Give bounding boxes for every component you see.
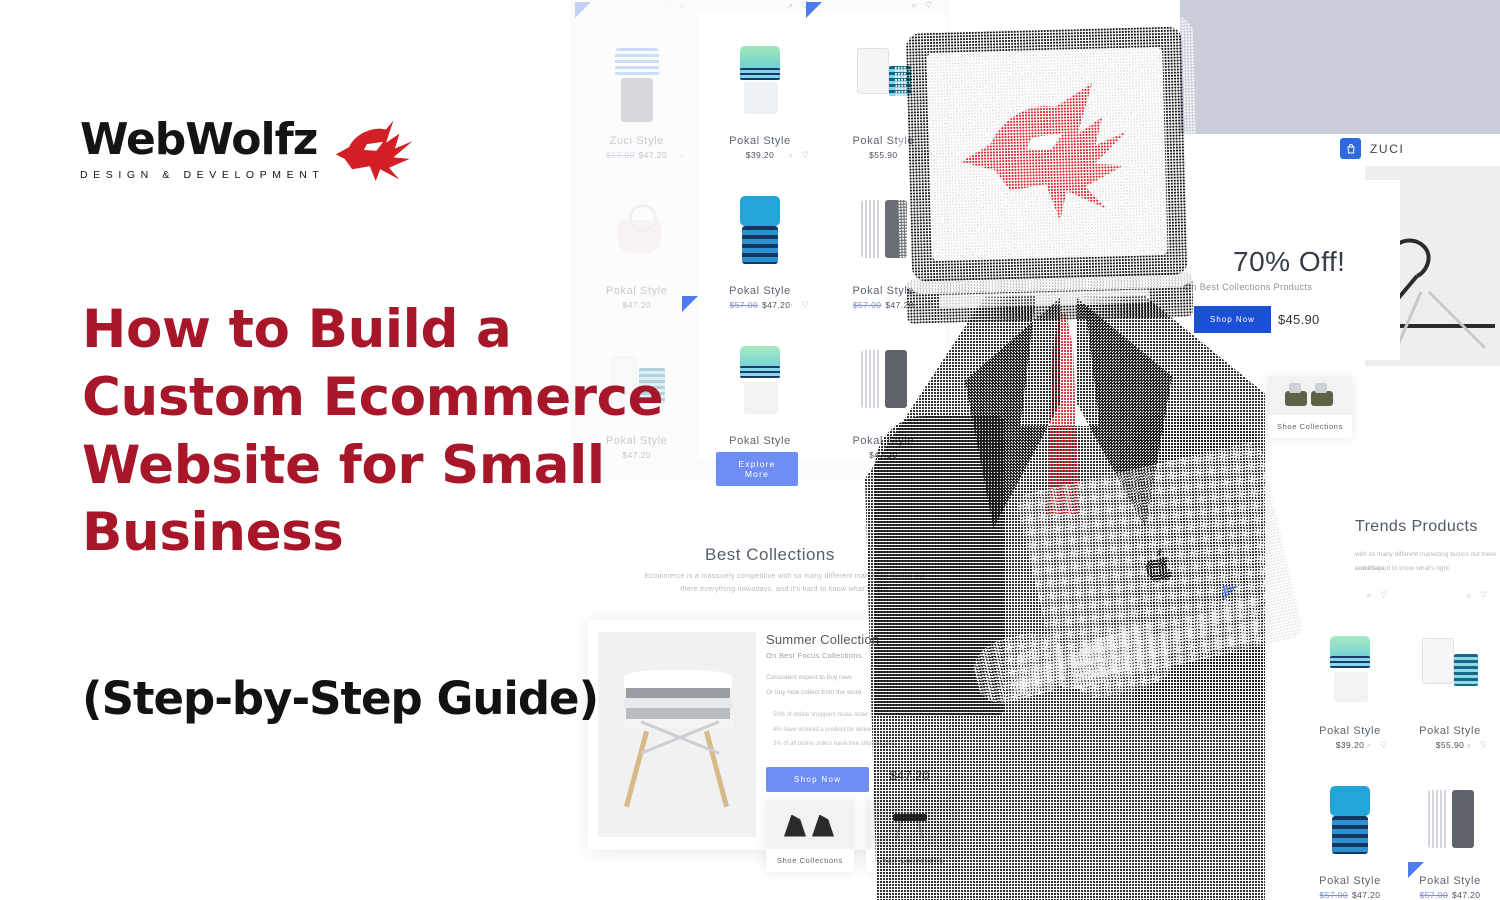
logo-text-block: WebWolfz DESIGN & DEVELOPMENT [80,118,324,181]
tv-bezel [906,26,1188,281]
badge-corner-icon [1408,862,1424,878]
headline-line-4: Business [82,499,782,567]
card-action-icons[interactable]: ⌕ ♡ [1467,590,1490,601]
product-price: $57.00$47.20 [606,150,667,160]
product-price: $55.90 [1436,740,1464,750]
product-card[interactable]: ⌕ ♡ Pokal Style $55.90 [1400,600,1500,750]
tv-vent [939,289,1149,307]
product-price: $57.00$47.20 [1320,890,1381,900]
page-subtitle: (Step-by-Step Guide) [82,672,598,725]
summer-collection-photo [598,632,756,837]
product-image [1314,632,1386,718]
trends-title: Trends Products [1355,518,1478,536]
headline-line-3: Website for Small [82,432,782,500]
product-card[interactable]: ⌕ ♡ Pokal Style $57.00$47.20 [1300,750,1400,900]
product-image [1414,782,1486,868]
card-action-icons[interactable]: ⌕ ♡ [788,150,811,161]
headline-line-1: How to Build a [82,296,782,364]
logo-wordmark: WebWolfz [80,118,324,162]
sandals-icon [1268,376,1352,415]
tv-screen [926,47,1167,261]
logo-tagline: DESIGN & DEVELOPMENT [80,169,324,181]
page-title: How to Build a Custom Ecommerce Website … [82,296,782,567]
product-card[interactable]: ⌕ ♡ Pokal Style $57.00$47.20 [698,160,821,310]
product-name: Pokal Style [1319,875,1381,887]
promo-price: $45.90 [1278,312,1320,327]
card-action-icons[interactable]: ♡ ⌕ [664,0,689,11]
brand-logo[interactable]: WebWolfz DESIGN & DEVELOPMENT [80,118,416,181]
collection-label: Shoe Collections [777,849,843,872]
tv-head [893,14,1200,294]
card-action-icons[interactable]: ⌕ ♡ [788,300,811,311]
card-action-icons[interactable]: ⌕ ♡ [1367,590,1390,601]
product-image [1314,782,1386,868]
product-card[interactable]: ♡ ⌕ Zuci Style $57.00$47.20 [575,10,698,160]
card-action-icons[interactable]: ♡ ⌕ [664,150,689,161]
right-product-grid: ⌕ ♡ Pokal Style $39.20 ⌕ ♡ [1300,600,1500,900]
product-card[interactable]: ♡ ⌕ Pokal Style $47.20 [575,160,698,310]
badge-corner-icon [806,2,822,18]
product-image [724,42,796,128]
product-image [724,192,796,278]
product-name: Pokal Style [1319,725,1381,737]
product-price: $39.20 [1336,740,1364,750]
zuci-brand-header[interactable]: ZUCI [1340,138,1404,159]
sneakers-icon [766,800,854,849]
product-price: $39.20 [746,150,774,160]
product-card[interactable]: ⌕ ♡ Pokal Style $39.20 [1300,600,1400,750]
shopping-bag-icon [1340,138,1361,159]
collection-label: Shoe Collections [1277,415,1343,438]
collection-card-shoe[interactable]: Shoe Collections [766,800,854,872]
product-name: Pokal Style [1419,875,1481,887]
wolf-head-icon [950,77,1144,232]
wolf-head-icon [334,119,416,181]
headline-line-2: Custom Ecommerce [82,364,782,432]
zuci-brand-name: ZUCI [1370,142,1404,156]
product-image [601,192,673,278]
product-name: Zuci Style [610,135,664,147]
trends-sub-line2: and it's hard to know what's right. [1355,562,1451,576]
product-name: Pokal Style [729,135,791,147]
product-name: Pokal Style [1419,725,1481,737]
card-action-icons[interactable]: ⌕ ♡ [1367,740,1390,751]
product-price: $57.00$47.20 [1420,890,1481,900]
product-image [1414,632,1486,718]
badge-corner-icon [575,2,591,18]
side-collection-card[interactable]: Shoe Collections [1268,376,1352,438]
tv-head-businessman [845,0,1275,900]
product-card[interactable]: ⌕ ♡ Pokal Style $39.20 [698,10,821,160]
product-image [601,42,673,128]
poster-canvas: ♡ ⌕ Zuci Style $57.00$47.20 ⌕ ♡ [0,0,1500,900]
apple-logo-icon [1139,544,1181,589]
card-action-icons[interactable]: ⌕ ♡ [1467,740,1490,751]
